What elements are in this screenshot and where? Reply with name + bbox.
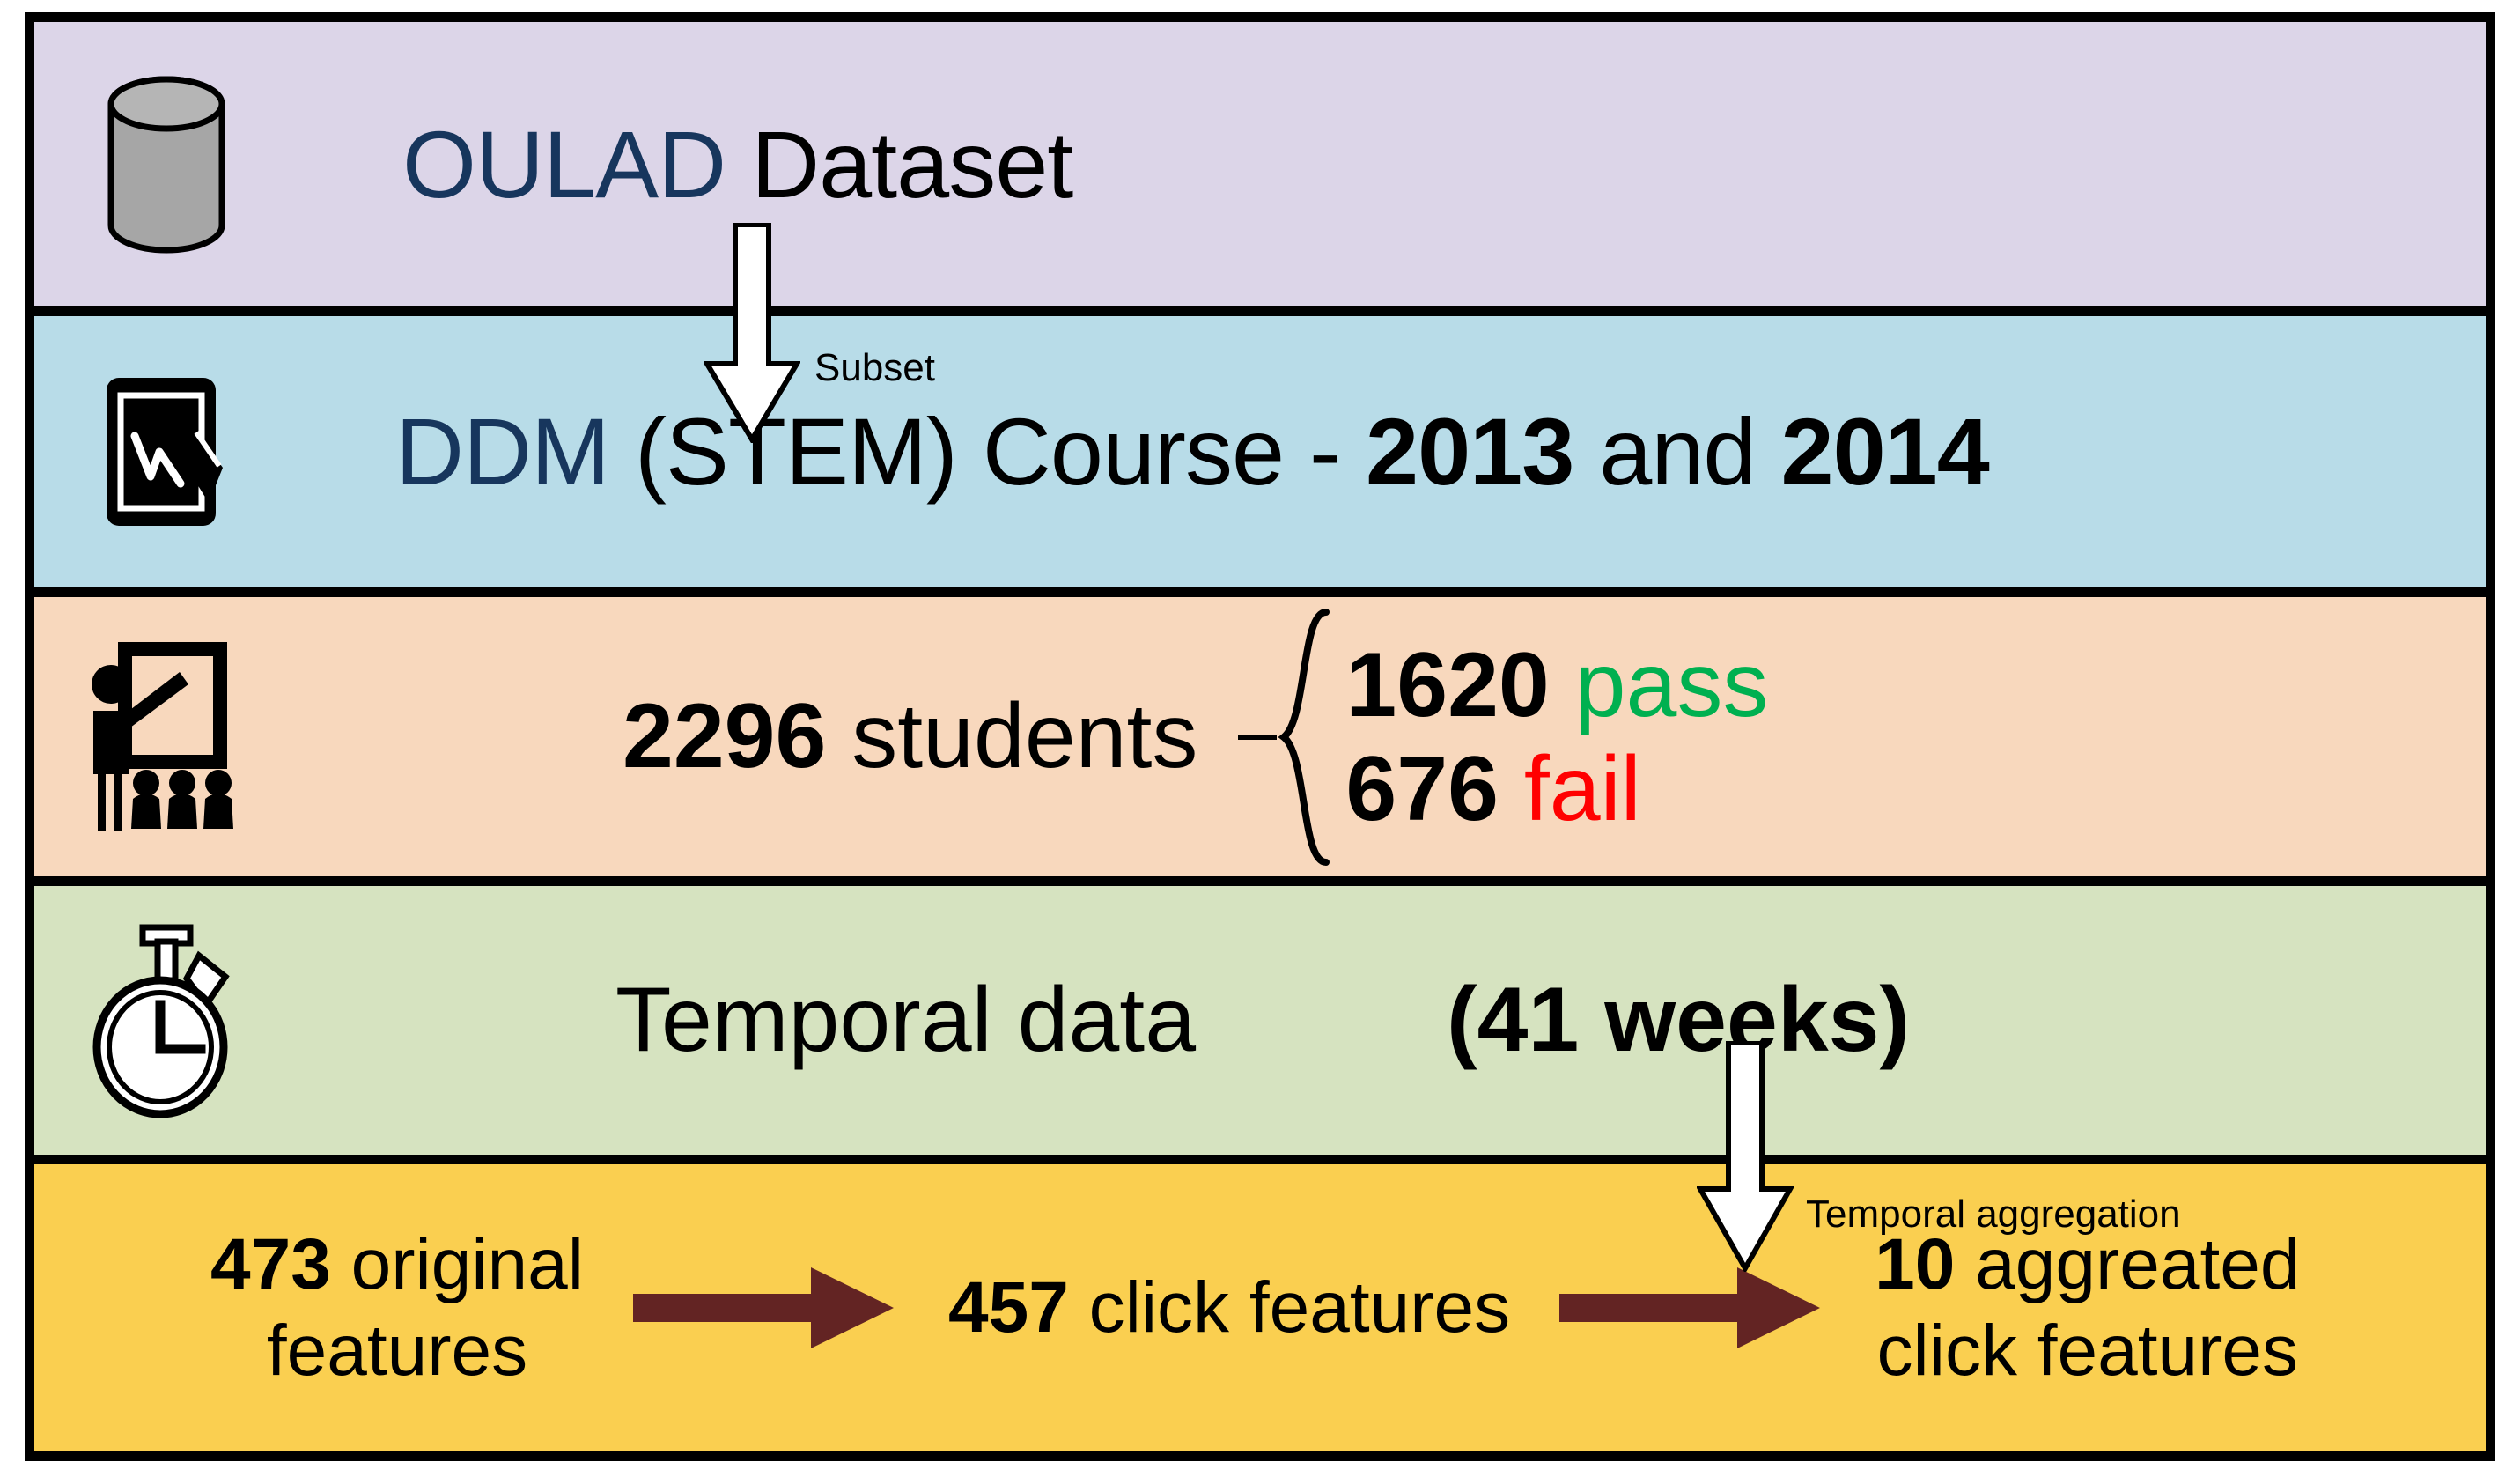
arrow-right-icon-1 — [630, 1255, 903, 1361]
students-count: 2296 — [623, 685, 826, 787]
feature-click-word: click features — [1069, 1267, 1510, 1348]
graphics-tablet-icon — [34, 371, 298, 534]
pass-label: pass — [1575, 634, 1769, 736]
band-course: DDM (STEM) Course - 2013 and 2014 — [34, 306, 2486, 587]
students-slot: 2296 students 1620 pass — [298, 597, 2486, 876]
stopwatch-icon — [34, 924, 298, 1118]
course-title: DDM (STEM) Course - 2013 and 2014 — [395, 402, 1989, 501]
feature-step-click: 457 click features — [948, 1265, 1510, 1351]
course-title-and: and — [1573, 398, 1780, 505]
curly-brace-icon — [1275, 605, 1337, 869]
course-year-2014: 2014 — [1781, 398, 1989, 505]
teacher-classroom-icon — [34, 642, 298, 831]
feature-step-aggregated-line2: click features — [1875, 1308, 2300, 1394]
temporal-label: Temporal data — [615, 968, 1196, 1073]
temporal-duration: (41 weeks) — [1447, 968, 1910, 1073]
feature-click-count: 457 — [948, 1267, 1069, 1348]
database-cylinder-icon — [34, 72, 298, 257]
dataset-title-accent: OULAD — [402, 111, 726, 218]
outcome-fail: 676 fail — [1345, 743, 1768, 835]
feature-step-original: 473 original features — [210, 1222, 584, 1395]
feature-step-aggregated: 10 aggreated click features — [1875, 1222, 2300, 1395]
dataset-title-rest: Dataset — [726, 111, 1072, 218]
course-title-slot: DDM (STEM) Course - 2013 and 2014 — [298, 316, 2486, 587]
feature-original-count: 473 — [210, 1224, 331, 1304]
feature-step-original-line2: features — [210, 1308, 584, 1394]
band-students: 2296 students 1620 pass — [34, 587, 2486, 876]
pass-count: 1620 — [1345, 634, 1549, 736]
feature-original-word: original — [331, 1224, 584, 1304]
fail-label: fail — [1524, 738, 1641, 840]
course-title-accent: DDM — [395, 398, 609, 505]
students-word: students — [826, 685, 1197, 787]
students-count-label: 2296 students — [623, 684, 1197, 789]
feature-step-click-line1: 457 click features — [948, 1265, 1510, 1351]
page-title: OULAD Dataset — [402, 114, 1072, 214]
course-year-2013: 2013 — [1366, 398, 1573, 505]
course-title-mid: (STEM) Course - — [609, 398, 1366, 505]
brace-stem — [1238, 735, 1277, 740]
feature-step-original-line1: 473 original — [210, 1222, 584, 1308]
subset-arrow-caption: Subset — [814, 346, 935, 390]
diagram-frame: OULAD Dataset Subset — [25, 12, 2495, 1461]
band-temporal: Temporal data (41 weeks) Temporal aggreg… — [34, 876, 2486, 1155]
outcomes-list: 1620 pass 676 fail — [1345, 639, 1768, 835]
outcome-brace-group: 1620 pass 676 fail — [1238, 605, 1768, 869]
temporal-aggregation-arrow-caption: Temporal aggregation — [1806, 1193, 2181, 1237]
diagram-canvas: OULAD Dataset Subset — [0, 0, 2520, 1477]
outcome-pass: 1620 pass — [1345, 639, 1768, 731]
arrow-right-icon-2 — [1556, 1255, 1829, 1361]
fail-count: 676 — [1345, 738, 1499, 840]
band-dataset: OULAD Dataset Subset — [34, 22, 2486, 306]
temporal-slot: Temporal data (41 weeks) — [298, 886, 2486, 1155]
dataset-title-slot: OULAD Dataset — [298, 22, 2486, 306]
